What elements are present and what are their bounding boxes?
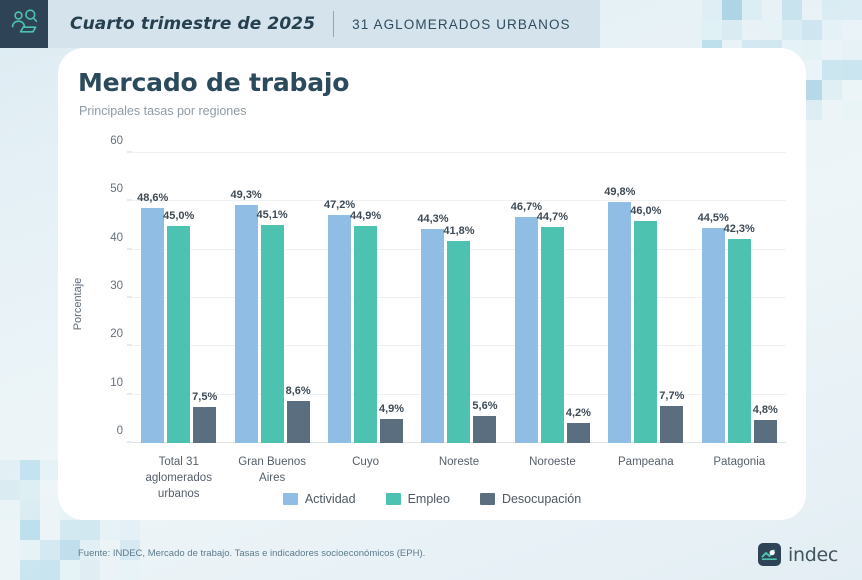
x-axis-category-label: Patagonia [681,454,798,470]
mosaic-tile [20,520,40,540]
bar-value-label: 42,3% [724,223,755,235]
plot-wrapper: Porcentaje 0102030405060 48,6%45,0%7,5%T… [58,143,806,493]
header-icon-container [0,0,48,48]
bar-set: 49,8%46,0%7,7% [599,153,692,443]
legend-item-actividad[interactable]: Actividad [283,492,356,506]
mosaic-tile [40,460,60,480]
source-note: Fuente: INDEC, Mercado de trabajo. Tasas… [78,548,425,559]
bar-desocupacin[interactable]: 7,7% [660,406,683,443]
bar-value-label: 7,5% [192,391,217,403]
indec-logo-text: indec [788,544,838,566]
header-strip: Cuarto trimestre de 2025 31 AGLOMERADOS … [48,0,600,48]
mosaic-tile [822,80,842,100]
bar-value-label: 7,7% [659,390,684,402]
page-title: Mercado de trabajo [78,68,349,97]
mosaic-tile [842,0,862,20]
bar-value-label: 49,8% [604,186,635,198]
bar-desocupacin[interactable]: 8,6% [287,401,310,443]
legend-label: Desocupación [502,492,581,506]
bar-value-label: 41,8% [443,225,474,237]
mosaic-tile [802,20,822,40]
people-search-icon [10,9,38,40]
bar-empleo[interactable]: 41,8% [447,241,470,443]
slide-canvas: Cuarto trimestre de 2025 31 AGLOMERADOS … [0,0,862,580]
bar-actividad[interactable]: 44,3% [421,229,444,443]
y-tick-label: 60 [110,135,123,147]
bar-actividad[interactable]: 49,3% [235,205,258,443]
mosaic-tile [60,520,80,540]
bar-set: 47,2%44,9%4,9% [319,153,412,443]
header-period-label: Cuarto trimestre de 2025 [70,14,315,34]
bar-value-label: 49,3% [231,189,262,201]
legend-label: Actividad [305,492,356,506]
mosaic-tile [0,500,20,520]
bar-group: 44,3%41,8%5,6%Noreste [412,153,505,443]
mosaic-tile [40,540,60,560]
mosaic-tile [0,460,20,480]
bar-group: 46,7%44,7%4,2%Noroeste [506,153,599,443]
mosaic-tile [782,20,802,40]
mosaic-tile [822,0,842,20]
bar-empleo[interactable]: 42,3% [728,239,751,443]
mosaic-tile [842,60,862,80]
bar-group: 47,2%44,9%4,9%Cuyo [319,153,412,443]
mosaic-tile [722,20,742,40]
bar-value-label: 44,7% [537,211,568,223]
bar-set: 44,5%42,3%4,8% [693,153,786,443]
y-axis-title: Porcentaje [72,244,84,364]
header-scope-label: 31 AGLOMERADOS URBANOS [352,17,571,32]
bar-set: 46,7%44,7%4,2% [506,153,599,443]
legend-swatch [480,493,495,505]
mosaic-tile [822,20,842,40]
bar-empleo[interactable]: 44,7% [541,227,564,443]
bar-set: 48,6%45,0%7,5% [132,153,225,443]
bar-desocupacin[interactable]: 4,9% [380,419,403,443]
header-bar: Cuarto trimestre de 2025 31 AGLOMERADOS … [0,0,600,48]
y-tick-label: 50 [110,183,123,195]
mosaic-tile [60,560,80,580]
mosaic-tile [702,0,722,20]
y-tick-label: 0 [117,425,123,437]
mosaic-tile [782,0,802,20]
mosaic-tile [822,60,842,80]
bar-actividad[interactable]: 49,8% [608,202,631,443]
bar-value-label: 44,9% [350,210,381,222]
mosaic-tile [100,520,120,540]
bar-group: 49,8%46,0%7,7%Pampeana [599,153,692,443]
plot-area: 0102030405060 48,6%45,0%7,5%Total 31aglo… [132,153,786,443]
bar-desocupacin[interactable]: 5,6% [473,416,496,443]
y-tick-label: 20 [110,328,123,340]
bar-empleo[interactable]: 46,0% [634,221,657,443]
bar-empleo[interactable]: 45,0% [167,226,190,444]
legend-label: Empleo [408,492,450,506]
mosaic-tile [722,0,742,20]
bar-actividad[interactable]: 46,7% [515,217,538,443]
mosaic-tile [802,40,822,60]
mosaic-tile [0,480,20,500]
bar-value-label: 5,6% [472,400,497,412]
bar-value-label: 45,1% [257,209,288,221]
mosaic-tile [80,520,100,540]
bar-desocupacin[interactable]: 4,2% [567,423,590,443]
bar-actividad[interactable]: 48,6% [141,208,164,443]
chart-legend: ActividadEmpleoDesocupación [58,492,806,506]
mosaic-tile [20,560,40,580]
bar-value-label: 4,2% [566,407,591,419]
mosaic-tile [60,540,80,560]
bar-set: 49,3%45,1%8,6% [225,153,318,443]
bar-value-label: 45,0% [163,210,194,222]
y-tick-label: 30 [110,280,123,292]
mosaic-tile [80,560,100,580]
bar-set: 44,3%41,8%5,6% [412,153,505,443]
bar-empleo[interactable]: 44,9% [354,226,377,443]
legend-swatch [386,493,401,505]
bar-value-label: 8,6% [286,385,311,397]
bar-group: 48,6%45,0%7,5%Total 31aglomeradosurbanos [132,153,225,443]
bar-group: 44,5%42,3%4,8%Patagonia [693,153,786,443]
mosaic-tile [120,560,140,580]
bar-value-label: 46,0% [630,205,661,217]
indec-logo: indec [758,543,838,566]
mosaic-tile [742,0,762,20]
mosaic-tile [702,20,722,40]
legend-item-desocupacin[interactable]: Desocupación [480,492,581,506]
legend-item-empleo[interactable]: Empleo [386,492,450,506]
mosaic-tile [20,540,40,560]
mosaic-tile [20,500,40,520]
indec-logo-icon [758,543,781,566]
bar-empleo[interactable]: 45,1% [261,225,284,443]
legend-swatch [283,493,298,505]
header-divider [333,11,334,37]
mosaic-tile [762,20,782,40]
bar-actividad[interactable]: 47,2% [328,215,351,443]
bar-value-label: 44,3% [417,213,448,225]
mosaic-tile [40,560,60,580]
bar-groups: 48,6%45,0%7,5%Total 31aglomeradosurbanos… [132,153,786,443]
mosaic-tile [120,520,140,540]
y-tick-label: 10 [110,377,123,389]
bar-group: 49,3%45,1%8,6%Gran BuenosAires [225,153,318,443]
mosaic-tile [842,40,862,60]
y-tick-label: 40 [110,232,123,244]
bar-value-label: 48,6% [137,192,168,204]
mosaic-tile [20,480,40,500]
page-subtitle: Principales tasas por regiones [79,104,246,118]
bar-desocupacin[interactable]: 7,5% [193,407,216,443]
mosaic-tile [842,100,862,120]
bar-value-label: 4,9% [379,403,404,415]
bar-desocupacin[interactable]: 4,8% [754,420,777,443]
bar-actividad[interactable]: 44,5% [702,228,725,443]
chart-card: Mercado de trabajo Principales tasas por… [58,48,806,520]
bar-value-label: 4,8% [753,404,778,416]
mosaic-tile [20,460,40,480]
